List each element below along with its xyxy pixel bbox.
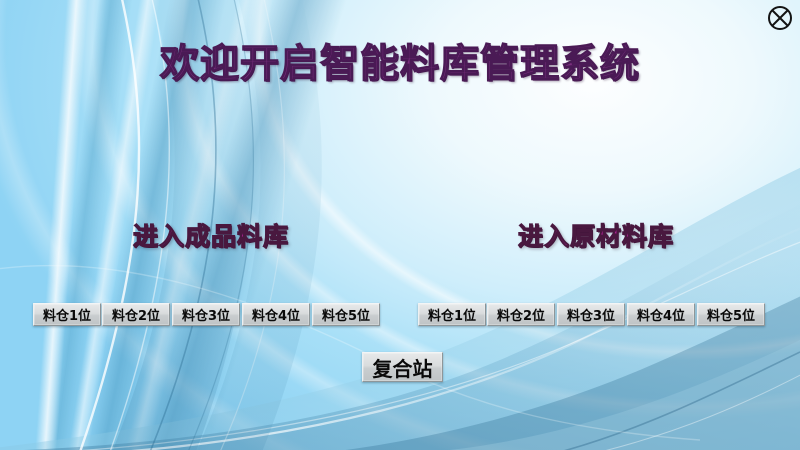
- section-heading-finished-goods[interactable]: 进入成品料库: [133, 217, 289, 253]
- bin-button-finished-2[interactable]: 料仓2位: [102, 303, 170, 326]
- bin-button-finished-5[interactable]: 料仓5位: [312, 303, 380, 326]
- bin-button-raw-3[interactable]: 料仓3位: [557, 303, 625, 326]
- bin-button-finished-1[interactable]: 料仓1位: [33, 303, 101, 326]
- swoosh-line-2: [600, 372, 800, 450]
- application-window: 欢迎开启智能料库管理系统 进入成品料库 进入原材料库 料仓1位 料仓2位 料仓3…: [0, 0, 800, 450]
- swoosh-a: [0, 150, 800, 450]
- bin-button-raw-5[interactable]: 料仓5位: [697, 303, 765, 326]
- bin-button-raw-2[interactable]: 料仓2位: [487, 303, 555, 326]
- composite-station-button[interactable]: 复合站: [362, 352, 443, 382]
- bin-button-raw-4[interactable]: 料仓4位: [627, 303, 695, 326]
- section-heading-raw-material[interactable]: 进入原材料库: [518, 217, 674, 253]
- swoosh-line-3: [0, 266, 700, 440]
- bin-button-raw-1[interactable]: 料仓1位: [418, 303, 486, 326]
- bin-button-finished-4[interactable]: 料仓4位: [242, 303, 310, 326]
- swoosh-d: [430, 316, 800, 450]
- page-title: 欢迎开启智能料库管理系统: [0, 33, 800, 89]
- swoosh-line-1: [560, 352, 800, 450]
- swoosh-highlight-2: [60, 228, 800, 450]
- close-circle-x-icon[interactable]: [766, 4, 794, 32]
- bin-button-finished-3[interactable]: 料仓3位: [172, 303, 240, 326]
